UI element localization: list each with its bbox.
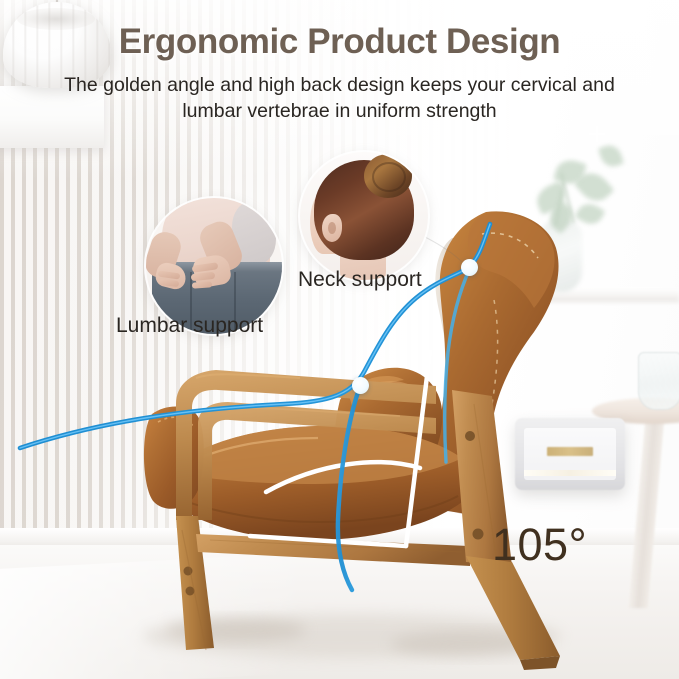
screw-cap bbox=[473, 529, 484, 540]
screw-cap bbox=[465, 431, 475, 441]
lumbar-support-label: Lumbar support bbox=[116, 314, 263, 338]
lumbar-support-marker bbox=[352, 377, 369, 394]
product-marketing-image: Ergonomic Product Design The golden angl… bbox=[0, 0, 679, 679]
neck-support-photo bbox=[300, 152, 428, 280]
neck-support-marker bbox=[461, 259, 478, 276]
recline-angle-label: 105° bbox=[492, 519, 587, 571]
page-subtitle: The golden angle and high back design ke… bbox=[40, 72, 639, 124]
neck-support-label: Neck support bbox=[298, 268, 422, 292]
hair-bun-swirl bbox=[372, 162, 406, 192]
ear-shape bbox=[322, 214, 342, 242]
page-title: Ergonomic Product Design bbox=[0, 22, 679, 62]
arm-pad bbox=[144, 407, 204, 509]
